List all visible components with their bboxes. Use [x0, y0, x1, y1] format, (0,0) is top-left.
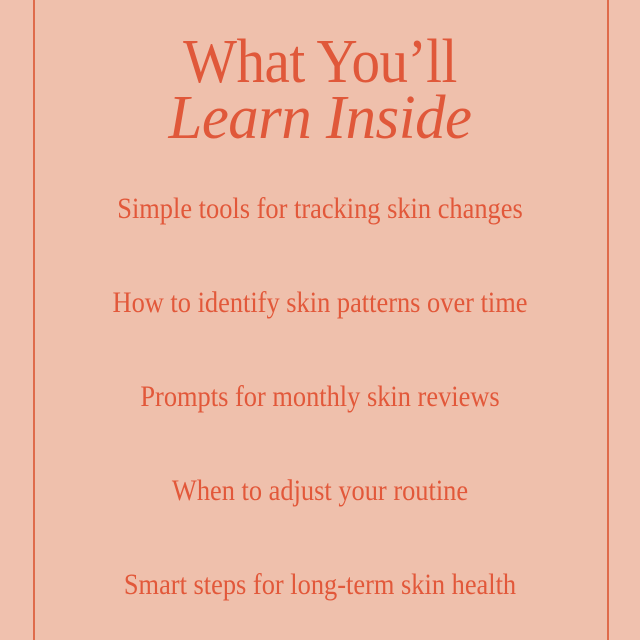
list-item: Simple tools for tracking skin changes	[38, 162, 601, 256]
list-item: When to adjust your routine	[38, 444, 601, 538]
poster-canvas: What You’ll Learn Inside Simple tools fo…	[0, 0, 640, 640]
benefits-list: Simple tools for tracking skin changes H…	[0, 162, 640, 632]
page-title: What You’ll Learn Inside	[0, 33, 640, 148]
list-item: How to identify skin patterns over time	[38, 256, 601, 350]
list-item: Smart steps for long-term skin health	[38, 538, 601, 632]
title-line-secondary: Learn Inside	[6, 89, 633, 149]
list-item: Prompts for monthly skin reviews	[38, 350, 601, 444]
